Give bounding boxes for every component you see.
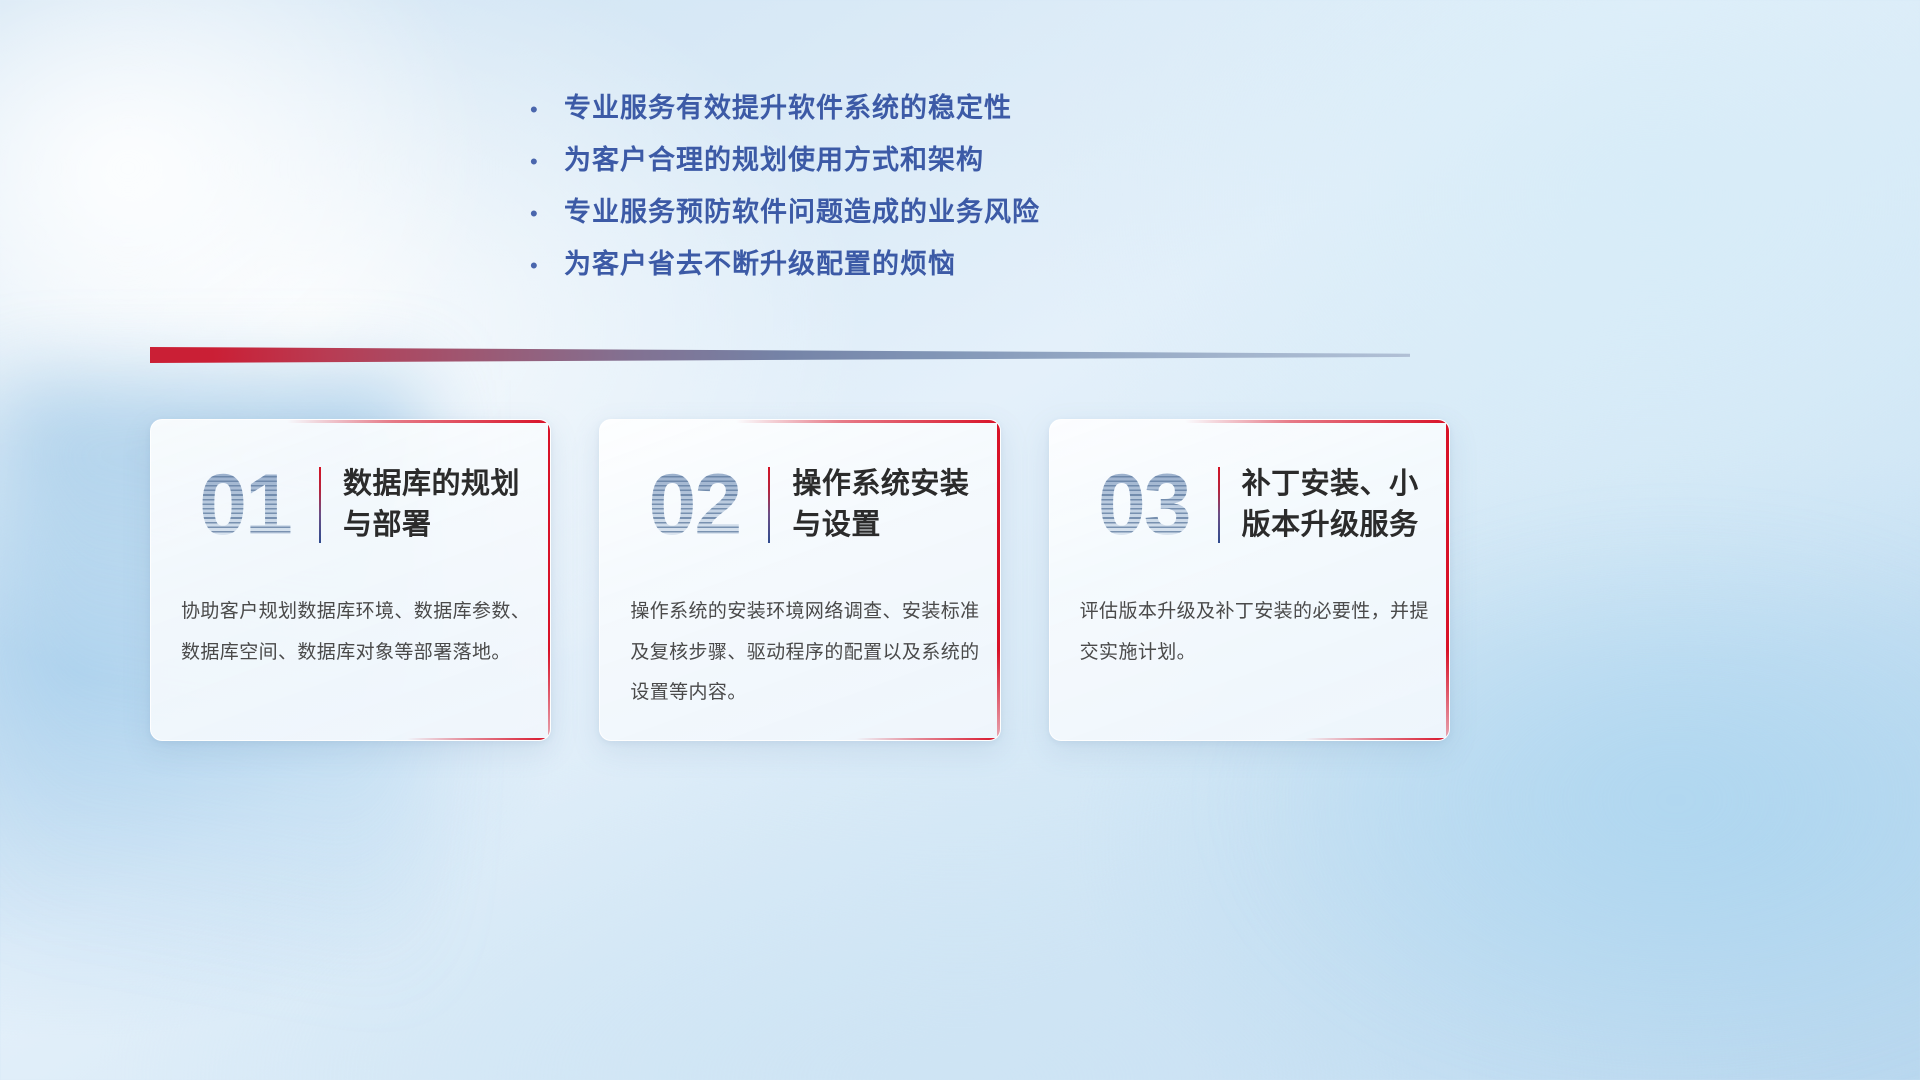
card-title: 数据库的规划与部署 xyxy=(343,464,543,546)
card-divider-line xyxy=(1218,467,1220,543)
list-item: • 专业服务有效提升软件系统的稳定性 xyxy=(530,86,1170,138)
section-divider xyxy=(150,347,1410,363)
card-body-text: 操作系统的安装环境网络调查、安装标准及复核步骤、驱动程序的配置以及系统的设置等内… xyxy=(630,592,980,714)
divider-gradient-bar xyxy=(150,347,1410,363)
service-card-02[interactable]: 02 操作系统安装与设置 操作系统的安装环境网络调查、安装标准及复核步骤、驱动程… xyxy=(599,419,1000,741)
card-divider-line xyxy=(768,467,770,543)
bullet-dot-icon: • xyxy=(530,151,564,173)
service-card-03[interactable]: 03 补丁安装、小版本升级服务 评估版本升级及补丁安装的必要性，并提交实施计划。 xyxy=(1049,419,1450,741)
background-glow-top-left xyxy=(0,0,500,480)
card-header: 02 操作系统安装与设置 xyxy=(600,446,999,564)
bullet-text: 专业服务预防软件问题造成的业务风险 xyxy=(564,190,1040,229)
list-item: • 为客户合理的规划使用方式和架构 xyxy=(530,138,1170,190)
card-accent-top xyxy=(287,420,551,423)
bullet-text: 为客户合理的规划使用方式和架构 xyxy=(564,138,984,177)
service-card-01[interactable]: 01 数据库的规划与部署 协助客户规划数据库环境、数据库参数、数据库空间、数据库… xyxy=(150,419,551,741)
card-accent-bottom xyxy=(1305,738,1449,741)
card-accent-top xyxy=(1185,420,1449,423)
card-number: 01 xyxy=(175,462,315,548)
card-body-text: 评估版本升级及补丁安装的必要性，并提交实施计划。 xyxy=(1080,592,1430,673)
card-header: 01 数据库的规划与部署 xyxy=(151,446,550,564)
service-card-list: 01 数据库的规划与部署 协助客户规划数据库环境、数据库参数、数据库空间、数据库… xyxy=(150,419,1450,741)
card-accent-bottom xyxy=(856,738,1000,741)
card-number: 03 xyxy=(1074,462,1214,548)
card-divider-line xyxy=(319,467,321,543)
list-item: • 专业服务预防软件问题造成的业务风险 xyxy=(530,190,1170,242)
card-body-text: 协助客户规划数据库环境、数据库参数、数据库空间、数据库对象等部署落地。 xyxy=(181,592,531,673)
list-item: • 为客户省去不断升级配置的烦恼 xyxy=(530,242,1170,294)
card-title: 操作系统安装与设置 xyxy=(792,464,992,546)
benefits-bullet-list: • 专业服务有效提升软件系统的稳定性 • 为客户合理的规划使用方式和架构 • 专… xyxy=(530,86,1170,294)
card-title: 补丁安装、小版本升级服务 xyxy=(1242,464,1442,546)
bullet-text: 为客户省去不断升级配置的烦恼 xyxy=(564,242,956,281)
card-accent-bottom xyxy=(407,738,551,741)
card-number: 02 xyxy=(624,462,764,548)
bullet-dot-icon: • xyxy=(530,203,564,225)
bullet-dot-icon: • xyxy=(530,255,564,277)
bullet-text: 专业服务有效提升软件系统的稳定性 xyxy=(564,86,1012,125)
card-accent-top xyxy=(736,420,1000,423)
bullet-dot-icon: • xyxy=(530,99,564,121)
card-header: 03 补丁安装、小版本升级服务 xyxy=(1050,446,1449,564)
